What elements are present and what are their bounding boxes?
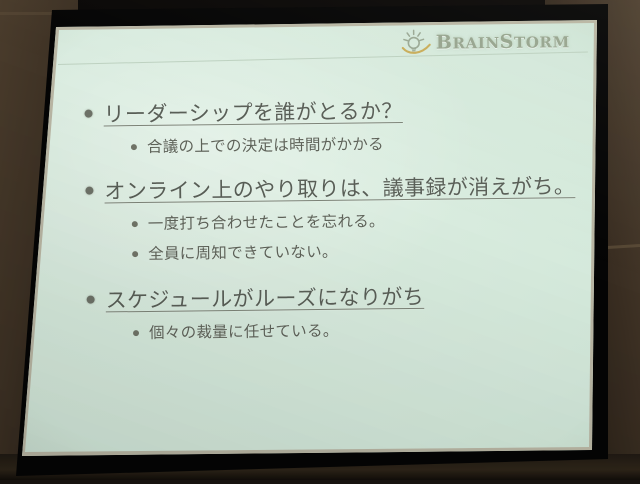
bullet-text: オンライン上のやり取りは、議事録が消えがち。	[104, 170, 575, 208]
slide-body: リーダーシップを誰がとるか？ 合議の上での決定は時間がかかる オンライン上のやり…	[84, 93, 577, 352]
bullet-dot-icon	[85, 110, 93, 118]
bullet-dot-icon	[87, 296, 95, 304]
lightbulb-icon	[401, 29, 431, 57]
brainstorm-logo-text: BRAINSTORM	[436, 30, 570, 54]
sub-bullet-dot-icon	[131, 144, 137, 150]
sub-bullet-text: 合議の上での決定は時間がかかる	[147, 132, 384, 159]
sub-bullet-text: 一度打ち合わせたことを忘れる。	[148, 209, 385, 236]
bullet-level2: 個々の裁量に任せている。	[133, 316, 577, 345]
sub-bullet-text: 個々の裁量に任せている。	[149, 319, 339, 345]
bullet-level2: 合議の上での決定は時間がかかる	[131, 130, 575, 159]
sub-bullet-dot-icon	[132, 221, 138, 227]
bullet-level2: 一度打ち合わせたことを忘れる。	[132, 207, 576, 236]
sub-bullet-dot-icon	[132, 251, 138, 257]
bullet-level1: リーダーシップを誰がとるか？	[84, 93, 574, 132]
sub-bullet-dot-icon	[133, 330, 139, 336]
bullet-level2: 全員に周知できていない。	[132, 237, 576, 266]
sub-bullet-text: 全員に周知できていない。	[148, 240, 338, 266]
bullet-text: リーダーシップを誰がとるか？	[103, 95, 403, 131]
bullet-text: スケジュールがルーズになりがち	[105, 281, 424, 318]
bullet-dot-icon	[85, 187, 93, 195]
bullet-level1: オンライン上のやり取りは、議事録が消えがち。	[85, 170, 575, 209]
bullet-level1: スケジュールがルーズになりがち	[86, 279, 576, 318]
slide-content: BRAINSTORM リーダーシップを誰がとるか？ 合議の上での決定は時間がかか…	[0, 0, 640, 484]
